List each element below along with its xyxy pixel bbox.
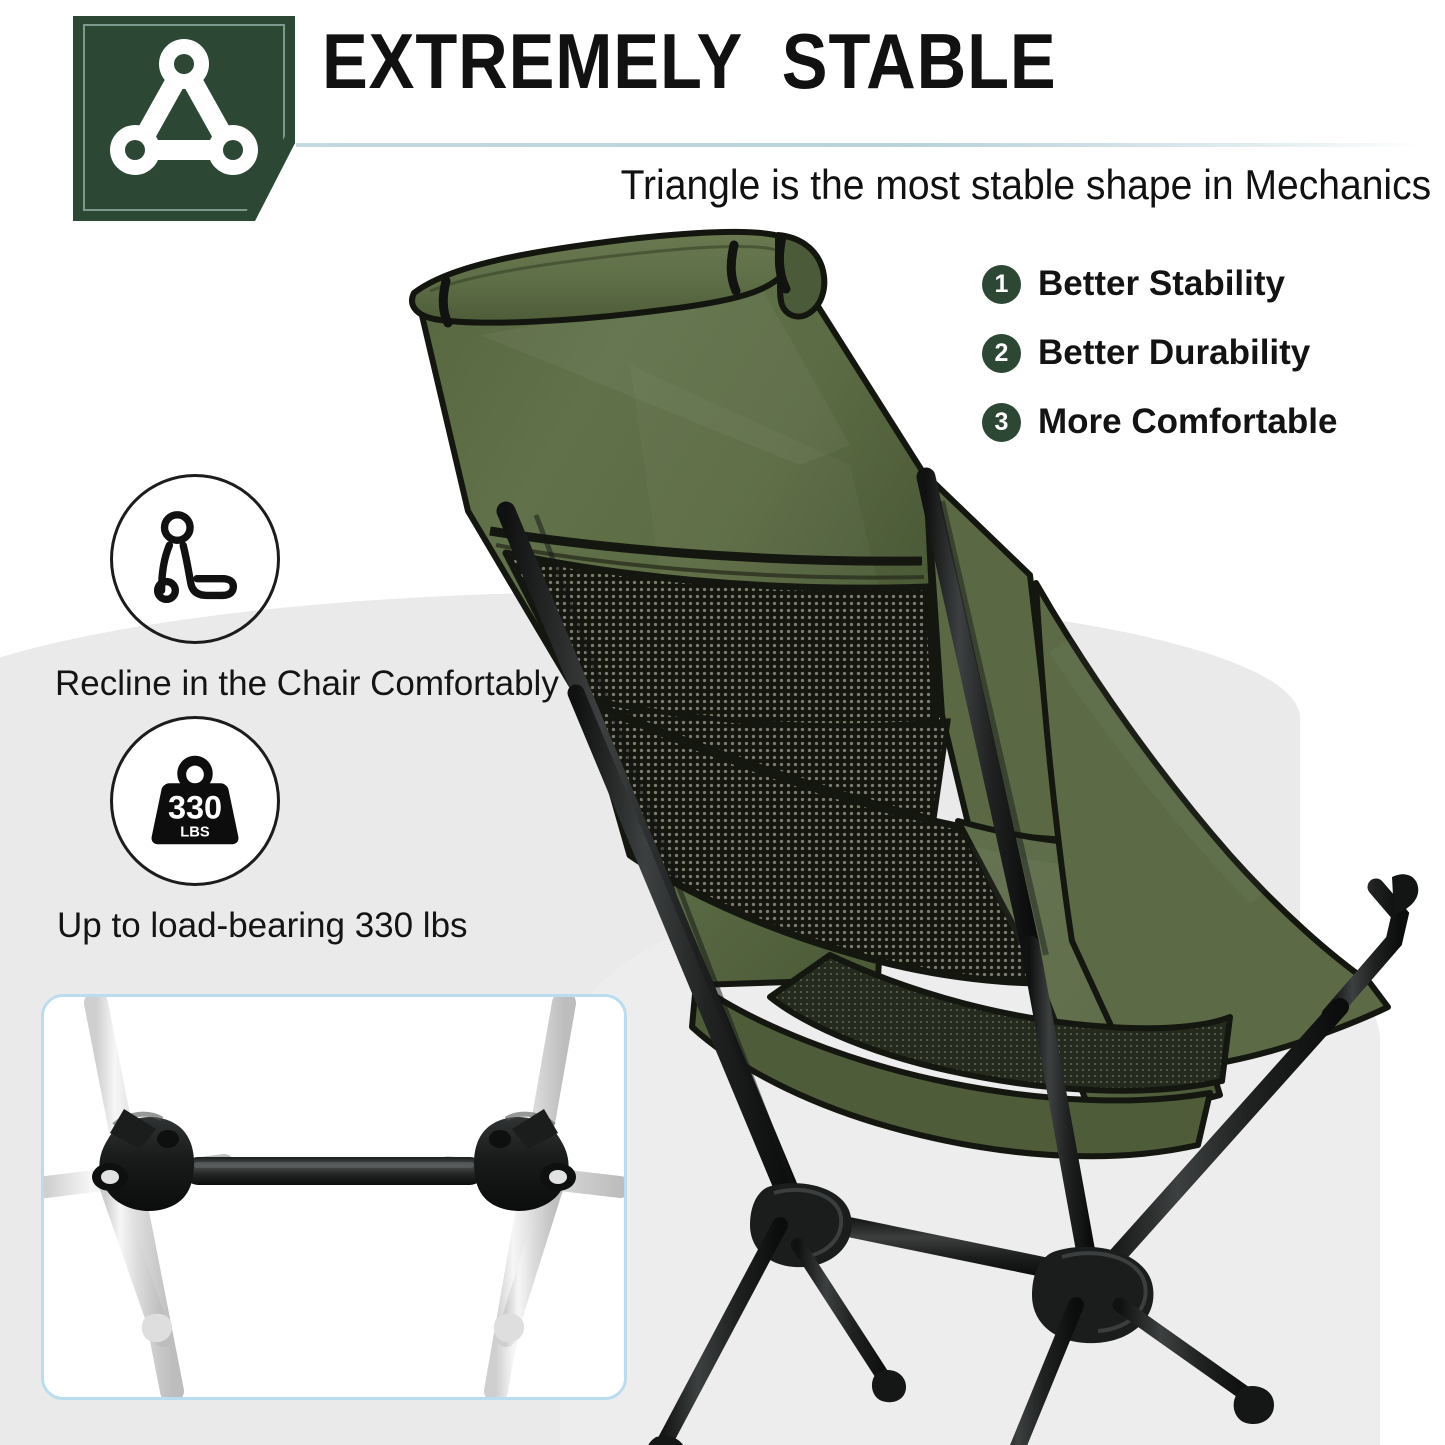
infographic-page: EXTREMELY STABLE Triangle is the most st… — [0, 0, 1445, 1445]
weight-330-lbs-icon: 330 LBS — [110, 716, 280, 886]
triangle-nodes-icon — [101, 32, 267, 198]
crossbar-connector-closeup — [41, 994, 627, 1400]
page-subtitle: Triangle is the most stable shape in Mec… — [621, 160, 1426, 210]
feature-load-caption: Up to load-bearing 330 lbs — [57, 906, 468, 946]
benefit-label: Better Stability — [1038, 264, 1285, 304]
benefits-list: 1 Better Stability 2 Better Durability 3… — [982, 256, 1337, 463]
benefit-label: More Comfortable — [1038, 402, 1337, 442]
page-title: EXTREMELY STABLE — [322, 22, 1057, 100]
header-divider — [296, 143, 1422, 147]
weight-unit: LBS — [180, 824, 210, 840]
benefit-number-badge: 1 — [982, 265, 1021, 304]
benefit-label: Better Durability — [1038, 333, 1310, 373]
feature-recline: Recline in the Chair Comfortably — [85, 474, 559, 704]
benefit-number-badge: 2 — [982, 334, 1021, 373]
feature-recline-caption: Recline in the Chair Comfortably — [55, 664, 559, 704]
feature-load-capacity: 330 LBS Up to load-bearing 330 lbs — [85, 716, 468, 946]
weight-value: 330 — [168, 790, 222, 826]
brand-badge — [73, 16, 295, 221]
reclining-person-chair-icon — [110, 474, 280, 644]
benefit-item-1: 1 Better Stability — [982, 256, 1337, 312]
benefit-item-3: 3 More Comfortable — [982, 394, 1337, 450]
benefit-item-2: 2 Better Durability — [982, 325, 1337, 381]
benefit-number-badge: 3 — [982, 403, 1021, 442]
